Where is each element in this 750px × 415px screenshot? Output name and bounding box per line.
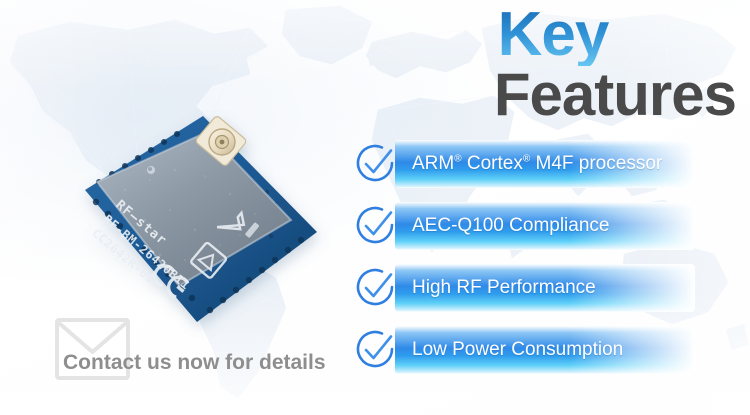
feature-label-part: M4F processor: [530, 153, 662, 174]
feature-list: ARM® Cortex® M4F processor AEC-Q100 Comp…: [350, 140, 750, 388]
feature-label: High RF Performance: [412, 264, 596, 312]
registered-mark: ®: [454, 154, 461, 165]
title-line-key: Key: [380, 4, 740, 66]
feature-row[interactable]: High RF Performance: [350, 264, 750, 312]
contact-block[interactable]: Contact us now for details: [55, 318, 355, 388]
check-circle-icon: [352, 265, 398, 311]
feature-label-part: Low Power Consumption: [412, 339, 623, 360]
feature-label-part: Cortex: [462, 153, 523, 174]
feature-label: ARM® Cortex® M4F processor: [412, 140, 662, 188]
svg-text:CC2642R-01: CC2642R-01: [89, 226, 157, 286]
feature-label: Low Power Consumption: [412, 326, 623, 374]
check-circle-icon: [352, 141, 398, 187]
contact-text: Contact us now for details: [63, 351, 326, 375]
feature-row[interactable]: Low Power Consumption: [350, 326, 750, 374]
check-circle-icon: [352, 203, 398, 249]
svg-text:RF-BM-26420B11: RF-BM-26420B11: [101, 212, 193, 292]
key-features-banner: Key Features: [0, 0, 750, 415]
feature-label-part: AEC-Q100 Compliance: [412, 215, 609, 236]
feature-label: AEC-Q100 Compliance: [412, 202, 609, 250]
rf-module-photo: RF–star RF-BM-26420B11 CC2642R-01: [55, 110, 335, 350]
check-circle-icon: [352, 327, 398, 373]
feature-label-part: ARM: [412, 153, 454, 174]
feature-row[interactable]: AEC-Q100 Compliance: [350, 202, 750, 250]
feature-label-part: High RF Performance: [412, 277, 596, 298]
svg-text:RF–star: RF–star: [112, 198, 169, 249]
title-line-features: Features: [380, 66, 740, 124]
feature-row[interactable]: ARM® Cortex® M4F processor: [350, 140, 750, 188]
page-title: Key Features: [380, 4, 740, 124]
